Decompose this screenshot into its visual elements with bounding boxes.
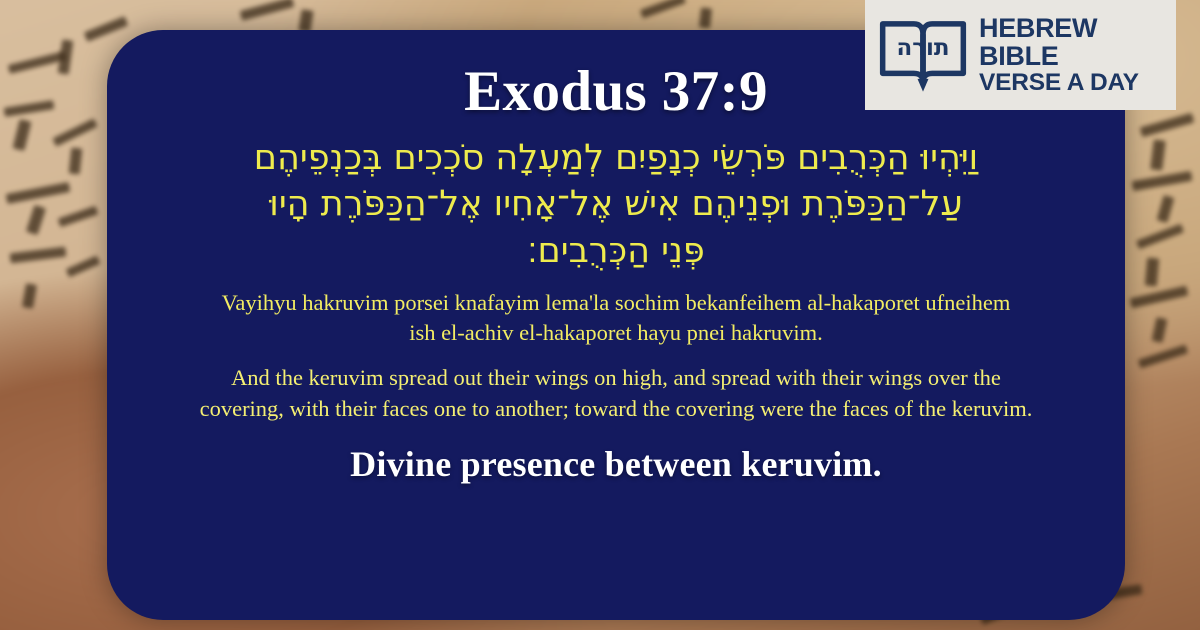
- verse-summary-caption: Divine presence between keruvim.: [153, 443, 1079, 485]
- hebrew-line: וַיִּהְיוּ הַכְּרֻבִים פֹּרְשֵׂי כְנָפַי…: [159, 135, 1073, 182]
- english-translation-text: And the keruvim spread out their wings o…: [153, 362, 1079, 425]
- hebrew-line: פְּנֵי הַכְּרֻבִים׃: [159, 228, 1073, 275]
- hebrew-line: עַל־הַכַּפֹּרֶת וּפְנֵיהֶם אִישׁ אֶל־אָח…: [159, 181, 1073, 228]
- transliteration-text: Vayihyu hakruvim porsei knafayim lema'la…: [153, 288, 1079, 347]
- brand-line-3: VERSE A DAY: [979, 70, 1139, 95]
- verse-card: Exodus 37:9 וַיִּהְיוּ הַכְּרֻבִים פֹּרְ…: [107, 30, 1125, 620]
- open-book-torah-icon: תורה: [877, 11, 969, 99]
- brand-line-1: HEBREW: [979, 15, 1139, 43]
- brand-line-2: BIBLE: [979, 43, 1139, 71]
- brand-logo-badge: תורה HEBREW BIBLE VERSE A DAY: [865, 0, 1176, 110]
- brand-name-text: HEBREW BIBLE VERSE A DAY: [979, 15, 1139, 95]
- hebrew-verse-text: וַיִּהְיוּ הַכְּרֻבִים פֹּרְשֵׂי כְנָפַי…: [153, 135, 1079, 275]
- book-hebrew-word: תורה: [896, 35, 949, 61]
